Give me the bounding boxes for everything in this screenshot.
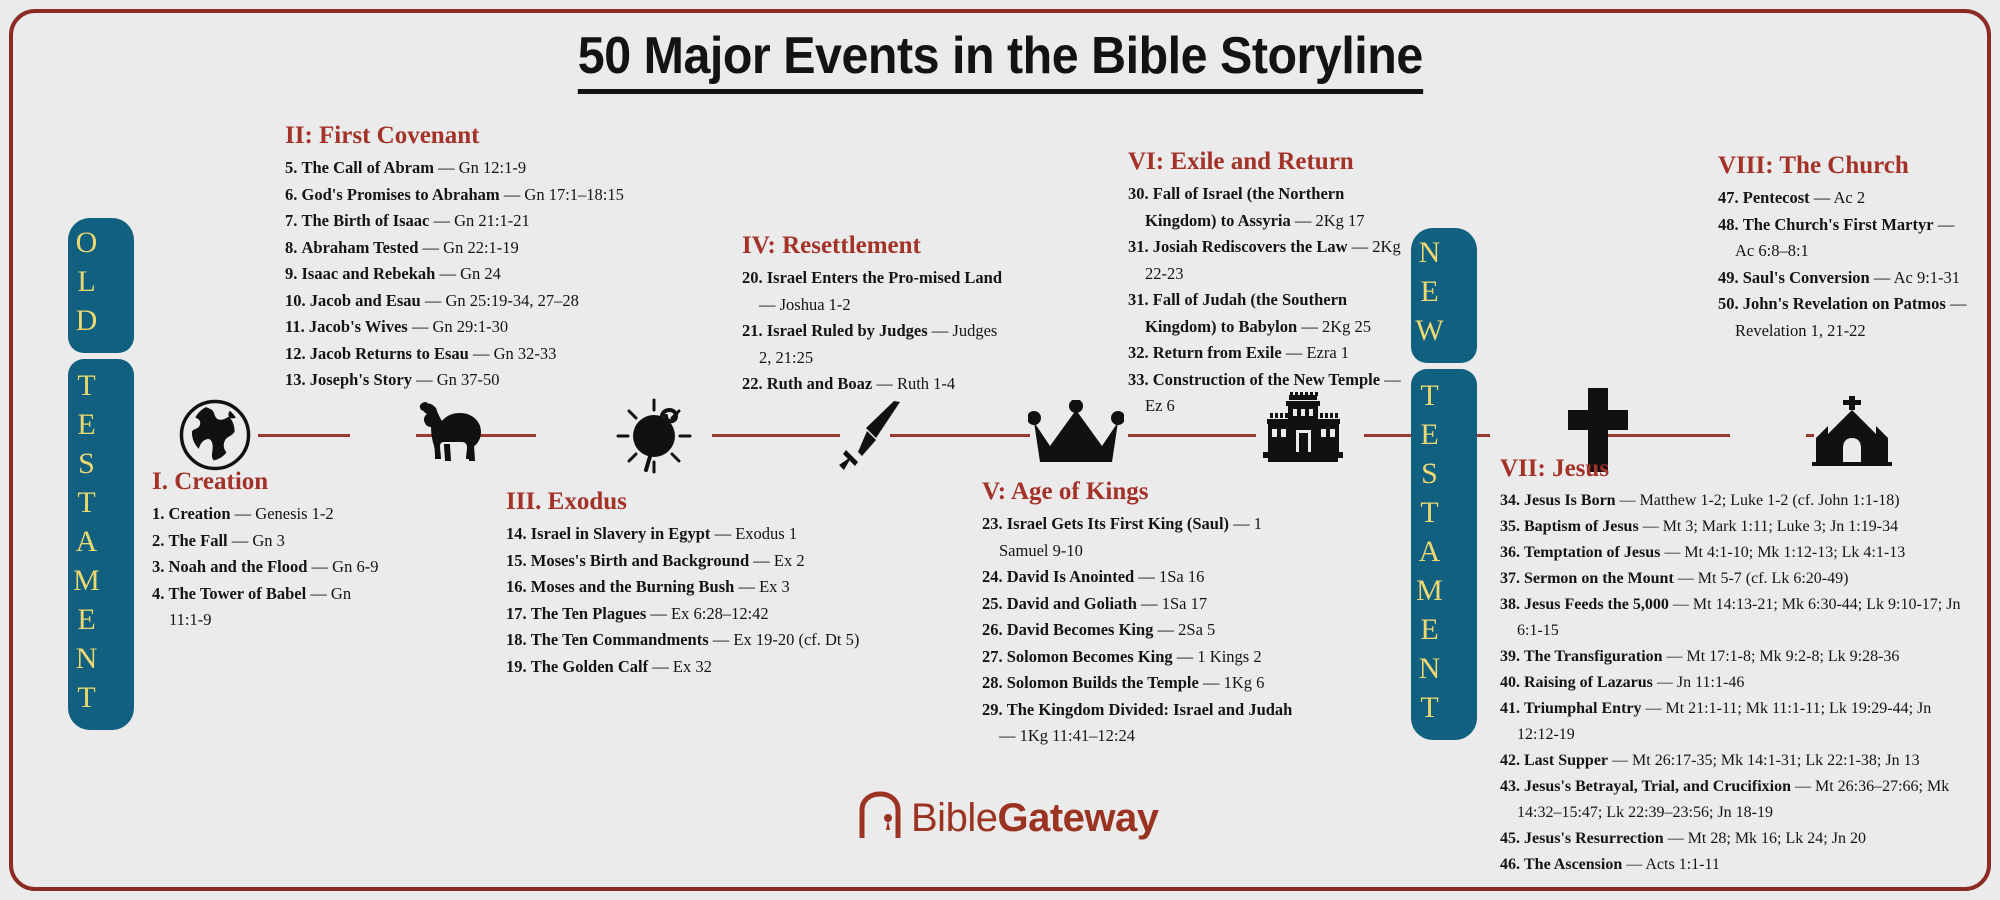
- page-title-text: 50 Major Events in the Bible Storyline: [578, 26, 1423, 94]
- item-title: David and Goliath: [1007, 594, 1137, 613]
- item-number: 45.: [1500, 830, 1520, 847]
- item-number: 29.: [982, 700, 1003, 719]
- list-item: 20. Israel Enters the Pro-mised Land — J…: [742, 265, 1007, 318]
- item-title: Jesus's Resurrection: [1524, 830, 1664, 847]
- section-jesus: VII: Jesus 34. Jesus Is Born — Matthew 1…: [1500, 455, 1965, 878]
- item-ref: — Gn 29:1-30: [412, 317, 508, 336]
- item-ref: — Mt 28; Mk 16; Lk 24; Jn 20: [1668, 830, 1866, 847]
- item-number: 7.: [285, 211, 297, 230]
- logo-text-bible: Bible: [911, 796, 997, 840]
- item-ref: — Gn 25:19-34, 27–28: [425, 291, 579, 310]
- list-item: 15. Moses's Birth and Background — Ex 2: [506, 548, 906, 575]
- list-item: 1. Creation — Genesis 1-2: [152, 501, 382, 528]
- list-item: 19. The Golden Calf — Ex 32: [506, 654, 906, 681]
- item-number: 47.: [1718, 188, 1739, 207]
- item-title: Temptation of Jesus: [1524, 544, 1660, 561]
- list-item: 22. Ruth and Boaz — Ruth 1-4: [742, 371, 1007, 398]
- item-title: Jesus's Betrayal, Trial, and Crucifixion: [1524, 778, 1791, 795]
- item-title: The Transfiguration: [1524, 648, 1663, 665]
- section-exodus: III. Exodus 14. Israel in Slavery in Egy…: [506, 488, 906, 680]
- item-ref: — Gn 32-33: [473, 344, 556, 363]
- section-age-of-kings-heading: V: Age of Kings: [982, 478, 1302, 506]
- item-ref: — Exodus 1: [715, 524, 798, 543]
- list-item: 27. Solomon Becomes King — 1 Kings 2: [982, 644, 1302, 671]
- item-title: John's Revelation on Patmos: [1743, 294, 1946, 313]
- item-number: 22.: [742, 374, 763, 393]
- new-testament-word-testament: TESTAMENT: [1411, 369, 1477, 740]
- section-exile-and-return: VI: Exile and Return 30. Fall of Israel …: [1128, 148, 1418, 420]
- item-ref: — 1Sa 16: [1138, 567, 1204, 586]
- page-title: 50 Major Events in the Bible Storyline: [0, 26, 2000, 94]
- item-title: Solomon Becomes King: [1007, 647, 1173, 666]
- item-number: 15.: [506, 551, 527, 570]
- section-the-church-heading: VIII: The Church: [1718, 152, 1968, 180]
- item-ref: — Ruth 1-4: [876, 374, 955, 393]
- item-title: The Fall: [169, 531, 228, 550]
- list-item: 8. Abraham Tested — Gn 22:1-19: [285, 235, 705, 262]
- item-title: Ruth and Boaz: [767, 374, 872, 393]
- list-item: 37. Sermon on the Mount — Mt 5-7 (cf. Lk…: [1500, 566, 1965, 592]
- section-first-covenant-list: 5. The Call of Abram — Gn 12:1-9 6. God'…: [285, 155, 705, 394]
- item-number: 50.: [1718, 294, 1739, 313]
- item-title: Solomon Builds the Temple: [1007, 673, 1199, 692]
- section-resettlement-heading: IV: Resettlement: [742, 232, 1007, 260]
- list-item: 3. Noah and the Flood — Gn 6-9: [152, 554, 382, 581]
- item-ref: — Ac 9:1-31: [1874, 268, 1960, 287]
- item-number: 32.: [1128, 343, 1149, 362]
- item-number: 20.: [742, 268, 763, 287]
- item-ref: — Gn 6-9: [312, 557, 379, 576]
- list-item: 17. The Ten Plagues — Ex 6:28–12:42: [506, 601, 906, 628]
- item-number: 16.: [506, 577, 527, 596]
- item-title: The Ten Commandments: [531, 630, 709, 649]
- section-the-church-list: 47. Pentecost — Ac 2 48. The Church's Fi…: [1718, 185, 1968, 344]
- list-item: 39. The Transfiguration — Mt 17:1-8; Mk …: [1500, 644, 1965, 670]
- item-number: 46.: [1500, 856, 1520, 873]
- list-item: 31. Fall of Judah (the Southern Kingdom)…: [1128, 287, 1418, 340]
- timeline-segment-4: [890, 434, 1030, 437]
- list-item: 14. Israel in Slavery in Egypt — Exodus …: [506, 521, 906, 548]
- item-number: 48.: [1718, 215, 1739, 234]
- item-number: 14.: [506, 524, 527, 543]
- item-title: Triumphal Entry: [1524, 700, 1642, 717]
- item-number: 34.: [1500, 492, 1520, 509]
- section-resettlement: IV: Resettlement 20. Israel Enters the P…: [742, 232, 1007, 398]
- item-number: 17.: [506, 604, 527, 623]
- section-exodus-heading: III. Exodus: [506, 488, 906, 516]
- item-title: Josiah Rediscovers the Law: [1153, 237, 1348, 256]
- section-the-church: VIII: The Church 47. Pentecost — Ac 2 48…: [1718, 152, 1968, 344]
- new-testament-banner: NEW TESTAMENT: [1411, 228, 1477, 728]
- item-title: Jesus Is Born: [1524, 492, 1616, 509]
- section-first-covenant: II: First Covenant 5. The Call of Abram …: [285, 122, 705, 394]
- item-ref: — Mt 4:1-10; Mk 1:12-13; Lk 4:1-13: [1664, 544, 1905, 561]
- crown-icon: [1028, 400, 1124, 468]
- item-ref: — 1Sa 17: [1141, 594, 1207, 613]
- list-item: 32. Return from Exile — Ezra 1: [1128, 340, 1418, 367]
- item-number: 31.: [1128, 237, 1149, 256]
- item-number: 18.: [506, 630, 527, 649]
- list-item: 29. The Kingdom Divided: Israel and Juda…: [982, 697, 1302, 750]
- list-item: 5. The Call of Abram — Gn 12:1-9: [285, 155, 705, 182]
- list-item: 42. Last Supper — Mt 26:17-35; Mk 14:1-3…: [1500, 748, 1965, 774]
- section-creation-list: 1. Creation — Genesis 1-2 2. The Fall — …: [152, 501, 382, 634]
- old-testament-word-testament: TESTAMENT: [68, 359, 134, 730]
- item-ref: — 1 Kings 2: [1177, 647, 1262, 666]
- item-title: Jacob Returns to Esau: [310, 344, 469, 363]
- item-title: The Call of Abram: [302, 158, 434, 177]
- section-creation: I. Creation 1. Creation — Genesis 1-2 2.…: [152, 468, 382, 634]
- item-number: 40.: [1500, 674, 1520, 691]
- section-exile-and-return-heading: VI: Exile and Return: [1128, 148, 1418, 176]
- logo-text-gateway: Gateway: [997, 796, 1158, 840]
- list-item: 48. The Church's First Martyr — Ac 6:8–8…: [1718, 212, 1968, 265]
- item-ref: — Ex 32: [652, 657, 712, 676]
- list-item: 46. The Ascension — Acts 1:1-11: [1500, 852, 1965, 878]
- item-ref: — Mt 26:17-35; Mk 14:1-31; Lk 22:1-38; J…: [1612, 752, 1920, 769]
- item-number: 28.: [982, 673, 1003, 692]
- item-title: Moses's Birth and Background: [531, 551, 749, 570]
- item-title: The Ten Plagues: [531, 604, 647, 623]
- item-title: Israel in Slavery in Egypt: [531, 524, 711, 543]
- item-ref: — Gn 22:1-19: [423, 238, 519, 257]
- item-title: Jesus Feeds the 5,000: [1524, 596, 1669, 613]
- list-item: 49. Saul's Conversion — Ac 9:1-31: [1718, 265, 1968, 292]
- item-ref: — Mt 5-7 (cf. Lk 6:20-49): [1678, 570, 1849, 587]
- item-title: Saul's Conversion: [1743, 268, 1870, 287]
- item-number: 2.: [152, 531, 164, 550]
- item-number: 31.: [1128, 290, 1149, 309]
- item-title: The Birth of Isaac: [302, 211, 430, 230]
- item-title: The Ascension: [1524, 856, 1622, 873]
- timeline-segment-5: [1128, 434, 1256, 437]
- item-ref: — Gn 21:1-21: [434, 211, 530, 230]
- item-number: 12.: [285, 344, 306, 363]
- item-ref: — Ex 3: [738, 577, 789, 596]
- item-title: Israel Ruled by Judges: [767, 321, 928, 340]
- list-item: 13. Joseph's Story — Gn 37-50: [285, 367, 705, 394]
- item-title: Noah and the Flood: [169, 557, 308, 576]
- section-exile-and-return-list: 30. Fall of Israel (the Northern Kingdom…: [1128, 181, 1418, 420]
- list-item: 9. Isaac and Rebekah — Gn 24: [285, 261, 705, 288]
- item-number: 11.: [285, 317, 305, 336]
- item-number: 37.: [1500, 570, 1520, 587]
- list-item: 16. Moses and the Burning Bush — Ex 3: [506, 574, 906, 601]
- item-title: Abraham Tested: [302, 238, 419, 257]
- item-ref: — Jn 11:1-46: [1657, 674, 1744, 691]
- list-item: 4. The Tower of Babel — Gn 11:1-9: [152, 581, 382, 634]
- item-number: 30.: [1128, 184, 1149, 203]
- list-item: 21. Israel Ruled by Judges — Judges 2, 2…: [742, 318, 1007, 371]
- list-item: 41. Triumphal Entry — Mt 21:1-11; Mk 11:…: [1500, 696, 1965, 748]
- item-title: Moses and the Burning Bush: [531, 577, 735, 596]
- item-number: 36.: [1500, 544, 1520, 561]
- list-item: 33. Construction of the New Temple — Ez …: [1128, 367, 1418, 420]
- item-title: Joseph's Story: [310, 370, 412, 389]
- list-item: 11. Jacob's Wives — Gn 29:1-30: [285, 314, 705, 341]
- item-number: 49.: [1718, 268, 1739, 287]
- item-title: Creation: [169, 504, 231, 523]
- infographic-canvas: 50 Major Events in the Bible Storyline O…: [0, 0, 2000, 900]
- item-ref: — Matthew 1-2; Luke 1-2 (cf. John 1:1-18…: [1620, 492, 1900, 509]
- item-ref: — Ex 2: [753, 551, 804, 570]
- new-testament-word-new: NEW: [1411, 228, 1477, 363]
- ot-letter-block-1: OLD: [68, 226, 104, 343]
- item-title: Baptism of Jesus: [1524, 518, 1639, 535]
- item-title: Jacob and Esau: [310, 291, 421, 310]
- item-number: 6.: [285, 185, 297, 204]
- item-ref: — Ex 19-20 (cf. Dt 5): [713, 630, 860, 649]
- list-item: 6. God's Promises to Abraham — Gn 17:1–1…: [285, 182, 705, 209]
- biblegateway-wordmark: BibleGateway: [911, 796, 1158, 841]
- list-item: 28. Solomon Builds the Temple — 1Kg 6: [982, 670, 1302, 697]
- item-number: 19.: [506, 657, 527, 676]
- section-age-of-kings: V: Age of Kings 23. Israel Gets Its Firs…: [982, 478, 1302, 750]
- old-testament-word-old: OLD: [68, 218, 134, 353]
- item-title: The Church's First Martyr: [1743, 215, 1934, 234]
- item-ref: — Ex 6:28–12:42: [650, 604, 768, 623]
- old-testament-banner: OLD TESTAMENT: [68, 218, 134, 728]
- list-item: 47. Pentecost — Ac 2: [1718, 185, 1968, 212]
- item-title: Pentecost: [1743, 188, 1810, 207]
- list-item: 18. The Ten Commandments — Ex 19-20 (cf.…: [506, 627, 906, 654]
- list-item: 36. Temptation of Jesus — Mt 4:1-10; Mk …: [1500, 540, 1965, 566]
- item-ref: — Gn 24: [440, 264, 501, 283]
- timeline-segment-3: [712, 434, 840, 437]
- section-jesus-list: 34. Jesus Is Born — Matthew 1-2; Luke 1-…: [1500, 488, 1965, 878]
- burning-bush-icon: [612, 392, 696, 476]
- item-number: 21.: [742, 321, 763, 340]
- item-ref: — 2Kg 17: [1295, 211, 1365, 230]
- section-first-covenant-heading: II: First Covenant: [285, 122, 705, 150]
- item-number: 38.: [1500, 596, 1520, 613]
- item-ref: — 1Kg 6: [1203, 673, 1264, 692]
- item-title: The Golden Calf: [531, 657, 648, 676]
- list-item: 12. Jacob Returns to Esau — Gn 32-33: [285, 341, 705, 368]
- section-resettlement-list: 20. Israel Enters the Pro-mised Land — J…: [742, 265, 1007, 398]
- list-item: 26. David Becomes King — 2Sa 5: [982, 617, 1302, 644]
- item-title: Israel Enters the Pro-mised Land: [767, 268, 1002, 287]
- item-number: 13.: [285, 370, 306, 389]
- item-number: 42.: [1500, 752, 1520, 769]
- item-title: Jacob's Wives: [309, 317, 408, 336]
- item-number: 41.: [1500, 700, 1520, 717]
- item-number: 39.: [1500, 648, 1520, 665]
- item-number: 23.: [982, 514, 1003, 533]
- item-title: Raising of Lazarus: [1524, 674, 1653, 691]
- item-number: 8.: [285, 238, 297, 257]
- sheep-icon: [418, 392, 498, 464]
- section-exodus-list: 14. Israel in Slavery in Egypt — Exodus …: [506, 521, 906, 680]
- item-title: Israel Gets Its First King (Saul): [1007, 514, 1229, 533]
- list-item: 50. John's Revelation on Patmos — Revela…: [1718, 291, 1968, 344]
- item-number: 43.: [1500, 778, 1520, 795]
- item-title: David Is Anointed: [1007, 567, 1134, 586]
- item-number: 10.: [285, 291, 306, 310]
- section-creation-heading: I. Creation: [152, 468, 382, 496]
- list-item: 38. Jesus Feeds the 5,000 — Mt 14:13-21;…: [1500, 592, 1965, 644]
- item-title: Return from Exile: [1153, 343, 1282, 362]
- item-ref: — Gn 3: [232, 531, 285, 550]
- biblegateway-logo[interactable]: BibleGateway: [858, 790, 1158, 847]
- item-title: Sermon on the Mount: [1524, 570, 1674, 587]
- item-title: Last Supper: [1524, 752, 1608, 769]
- nt-letter-block-2: TESTAMENT: [1411, 379, 1447, 730]
- section-jesus-heading: VII: Jesus: [1500, 455, 1965, 483]
- item-ref: — 2Sa 5: [1158, 620, 1216, 639]
- item-ref: — Gn 12:1-9: [438, 158, 526, 177]
- sword-icon: [836, 398, 908, 474]
- item-title: The Kingdom Divided: Israel and Judah: [1007, 700, 1293, 719]
- list-item: 25. David and Goliath — 1Sa 17: [982, 591, 1302, 618]
- list-item: 31. Josiah Rediscovers the Law — 2Kg 22-…: [1128, 234, 1418, 287]
- ot-letter-block-2: TESTAMENT: [68, 369, 104, 720]
- item-number: 33.: [1128, 370, 1149, 389]
- item-title: Isaac and Rebekah: [302, 264, 436, 283]
- item-number: 9.: [285, 264, 297, 283]
- list-item: 2. The Fall — Gn 3: [152, 528, 382, 555]
- list-item: 10. Jacob and Esau — Gn 25:19-34, 27–28: [285, 288, 705, 315]
- section-age-of-kings-list: 23. Israel Gets Its First King (Saul) — …: [982, 511, 1302, 750]
- timeline-segment-1: [258, 434, 350, 437]
- item-ref: — 1Kg 11:41–12:24: [999, 726, 1135, 745]
- biblegateway-mark-icon: [858, 790, 902, 847]
- list-item: 24. David Is Anointed — 1Sa 16: [982, 564, 1302, 591]
- item-number: 1.: [152, 504, 164, 523]
- item-number: 24.: [982, 567, 1003, 586]
- item-ref: — 2Kg 25: [1301, 317, 1371, 336]
- list-item: 45. Jesus's Resurrection — Mt 28; Mk 16;…: [1500, 826, 1965, 852]
- item-number: 26.: [982, 620, 1003, 639]
- item-ref: — Ezra 1: [1286, 343, 1349, 362]
- item-ref: — Mt 3; Mark 1:11; Luke 3; Jn 1:19-34: [1643, 518, 1898, 535]
- item-number: 35.: [1500, 518, 1520, 535]
- item-ref: — Joshua 1-2: [759, 295, 851, 314]
- item-ref: — Genesis 1-2: [235, 504, 334, 523]
- item-ref: — Gn 17:1–18:15: [504, 185, 624, 204]
- item-number: 25.: [982, 594, 1003, 613]
- item-number: 5.: [285, 158, 297, 177]
- item-number: 3.: [152, 557, 164, 576]
- item-ref: — Acts 1:1-11: [1626, 856, 1720, 873]
- list-item: 23. Israel Gets Its First King (Saul) — …: [982, 511, 1302, 564]
- list-item: 34. Jesus Is Born — Matthew 1-2; Luke 1-…: [1500, 488, 1965, 514]
- list-item: 30. Fall of Israel (the Northern Kingdom…: [1128, 181, 1418, 234]
- item-number: 27.: [982, 647, 1003, 666]
- item-ref: — Mt 17:1-8; Mk 9:2-8; Lk 9:28-36: [1667, 648, 1900, 665]
- item-title: Construction of the New Temple: [1153, 370, 1380, 389]
- globe-icon: [178, 398, 252, 472]
- list-item: 43. Jesus's Betrayal, Trial, and Crucifi…: [1500, 774, 1965, 826]
- item-ref: — Ac 2: [1814, 188, 1865, 207]
- item-title: David Becomes King: [1007, 620, 1154, 639]
- item-ref: — Gn 37-50: [416, 370, 499, 389]
- list-item: 35. Baptism of Jesus — Mt 3; Mark 1:11; …: [1500, 514, 1965, 540]
- list-item: 7. The Birth of Isaac — Gn 21:1-21: [285, 208, 705, 235]
- item-title: The Tower of Babel: [169, 584, 307, 603]
- item-number: 4.: [152, 584, 164, 603]
- list-item: 40. Raising of Lazarus — Jn 11:1-46: [1500, 670, 1965, 696]
- item-title: God's Promises to Abraham: [302, 185, 500, 204]
